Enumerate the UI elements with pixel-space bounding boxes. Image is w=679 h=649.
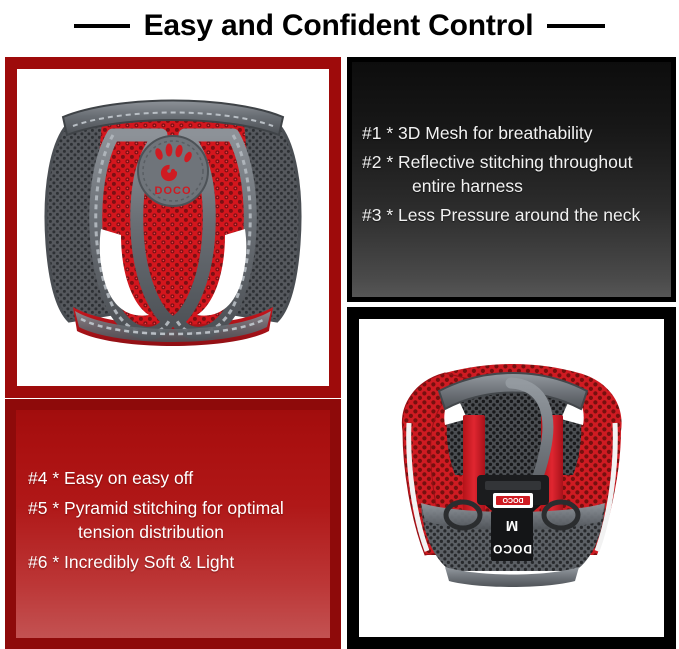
feature-item-6-tag: #6 *: [28, 552, 59, 572]
feature-item-3-tag: #3 *: [362, 205, 393, 225]
page-title: Easy and Confident Control: [144, 11, 534, 41]
feature-item-5-text: Pyramid stitching for optimal tension di…: [64, 498, 284, 542]
feature-item-2-text: Reflective stitching throughout entire h…: [398, 152, 632, 196]
photo-canvas-front: DOCO: [17, 69, 329, 386]
feature-item-4-tag: #4 *: [28, 468, 59, 488]
svg-text:DOCO: DOCO: [502, 496, 524, 503]
doco-logo-badge: DOCO: [138, 136, 208, 206]
feature-item-6-text: Incredibly Soft & Light: [64, 552, 234, 572]
harness-front-illustration: DOCO: [17, 69, 329, 386]
feature-item-5-tag: #5 *: [28, 498, 59, 518]
feature-item-6: #6 * Incredibly Soft & Light: [28, 550, 330, 574]
feature-item-4: #4 * Easy on easy off: [28, 466, 330, 490]
feature-item-4-text: Easy on easy off: [64, 468, 193, 488]
svg-text:M: M: [506, 517, 519, 534]
feature-item-1-text: 3D Mesh for breathability: [398, 123, 593, 143]
feature-item-3: #3 * Less Pressure around the neck: [362, 203, 671, 227]
photo-canvas-back: DOCO M DOCO: [359, 319, 664, 637]
feature-item-3-text: Less Pressure around the neck: [398, 205, 640, 225]
features-panel-red: #4 * Easy on easy off #5 * Pyramid stitc…: [5, 399, 341, 649]
feature-item-2-tag: #2 *: [362, 152, 393, 172]
brand-tag-red: DOCO: [493, 493, 533, 508]
photo-panel-front-view: DOCO: [5, 57, 341, 398]
svg-text:DOCO: DOCO: [155, 185, 192, 197]
features-panel-dark: #1 * 3D Mesh for breathability #2 * Refl…: [347, 57, 676, 302]
svg-text:DOCO: DOCO: [492, 542, 532, 556]
feature-list-dark: #1 * 3D Mesh for breathability #2 * Refl…: [362, 121, 671, 233]
feature-item-2: #2 * Reflective stitching throughout ent…: [362, 150, 671, 198]
title-rule-right-icon: [547, 24, 605, 28]
page-header: Easy and Confident Control: [0, 0, 679, 52]
feature-item-1: #1 * 3D Mesh for breathability: [362, 121, 671, 145]
size-tag: M DOCO: [491, 511, 533, 561]
title-rule-left-icon: [74, 24, 130, 28]
feature-item-5: #5 * Pyramid stitching for optimal tensi…: [28, 496, 330, 544]
photo-panel-back-view: DOCO M DOCO: [347, 307, 676, 649]
feature-item-1-tag: #1 *: [362, 123, 393, 143]
harness-back-illustration: DOCO M DOCO: [359, 319, 664, 637]
feature-list-red: #4 * Easy on easy off #5 * Pyramid stitc…: [28, 466, 330, 581]
